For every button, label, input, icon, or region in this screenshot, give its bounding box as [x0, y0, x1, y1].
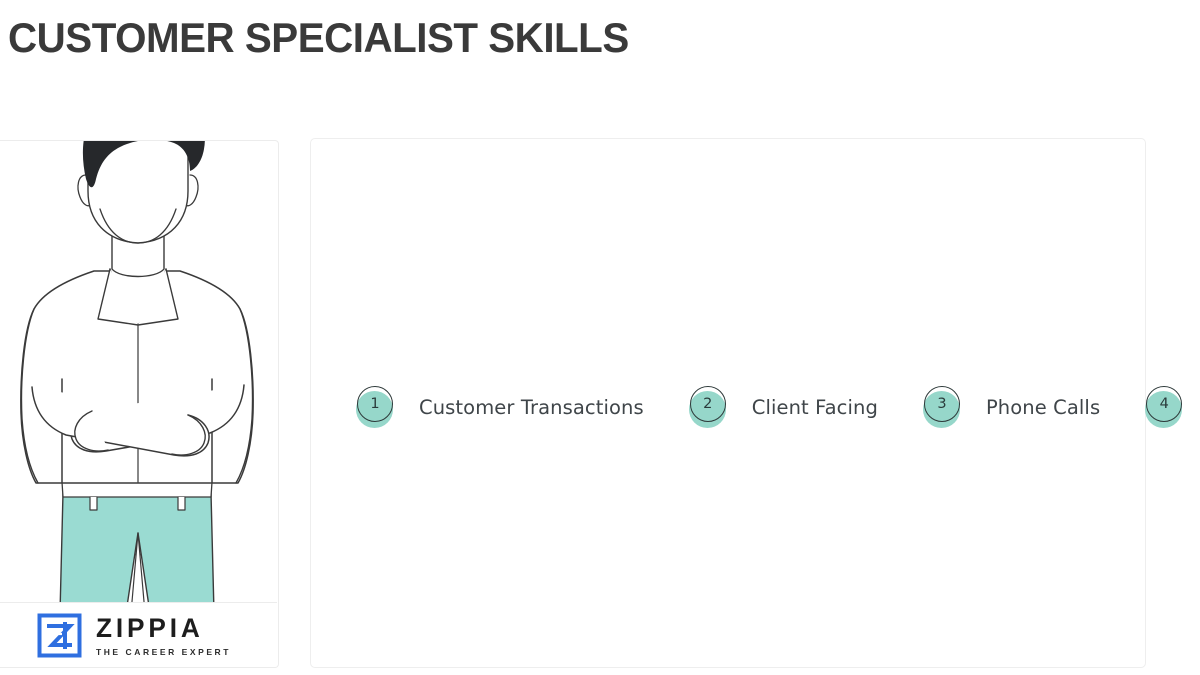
skill-item: 1Customer Transactions: [311, 177, 644, 637]
crossed-arms-man-illustration: [0, 140, 279, 613]
badge-number: 1: [357, 386, 393, 422]
skill-label: Client Facing: [752, 396, 878, 419]
zippia-tagline: THE CAREER EXPERT: [96, 648, 231, 657]
badge-number: 2: [690, 386, 726, 422]
skills-grid: 1Customer Transactions2Client Facing3Pho…: [311, 139, 1145, 667]
skill-item: 4Customer Loyalty: [1100, 177, 1200, 637]
skill-item: 2Client Facing: [644, 177, 878, 637]
infographic-page: CUSTOMER SPECIALIST SKILLS: [0, 0, 1200, 675]
zippia-logo[interactable]: ZIPPIA THE CAREER EXPERT: [0, 602, 277, 668]
skill-label: Phone Calls: [986, 396, 1100, 419]
zippia-wordmark: ZIPPIA: [96, 615, 227, 642]
skill-label: Customer Transactions: [419, 396, 644, 419]
skill-item: 3Phone Calls: [878, 177, 1100, 637]
skill-number-badge: 1: [354, 386, 396, 428]
illustration-panel: ZIPPIA THE CAREER EXPERT: [0, 140, 279, 668]
badge-number: 4: [1146, 386, 1182, 422]
zippia-z-mark: [36, 612, 83, 659]
skill-number-badge: 2: [687, 386, 729, 428]
skills-panel: 1Customer Transactions2Client Facing3Pho…: [310, 138, 1146, 668]
page-title: CUSTOMER SPECIALIST SKILLS: [8, 14, 629, 62]
skill-number-badge: 3: [921, 386, 963, 428]
zippia-logo-text: ZIPPIA THE CAREER EXPERT: [96, 615, 231, 657]
badge-number: 3: [924, 386, 960, 422]
skill-number-badge: 4: [1143, 386, 1185, 428]
